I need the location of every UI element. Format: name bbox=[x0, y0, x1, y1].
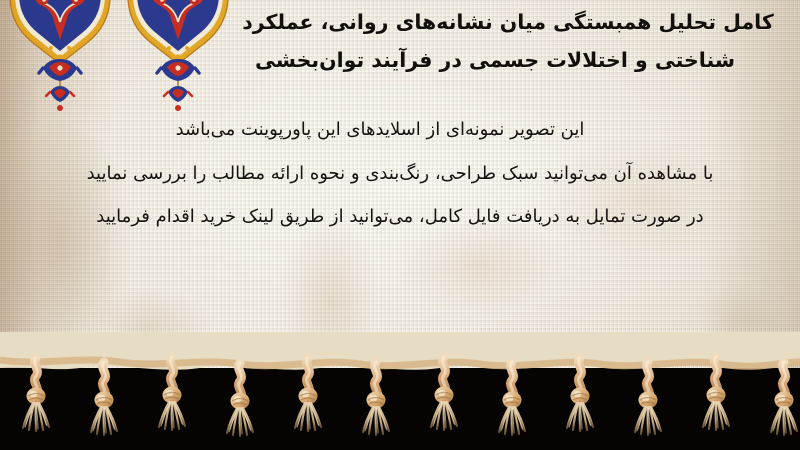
slide-canvas: کامل تحلیل همبستگی میان نشانه‌های روانی،… bbox=[0, 0, 800, 450]
body-line-3: در صورت تمایل به دریافت فایل کامل، می‌تو… bbox=[10, 195, 790, 239]
slide-title: کامل تحلیل همبستگی میان نشانه‌های روانی،… bbox=[228, 4, 788, 80]
slide-body: این تصویر نمونه‌ای از اسلایدهای این پاور… bbox=[10, 108, 790, 239]
carpet-fringe bbox=[0, 332, 800, 450]
body-line-2: با مشاهده آن می‌توانید سبک طراحی، رنگ‌بن… bbox=[10, 152, 790, 196]
title-line-1: کامل تحلیل همبستگی میان نشانه‌های روانی،… bbox=[228, 4, 788, 42]
title-line-2: شناختی و اختلالات جسمی در فرآیند توان‌بخ… bbox=[228, 42, 788, 80]
body-line-1: این تصویر نمونه‌ای از اسلایدهای این پاور… bbox=[10, 108, 790, 152]
